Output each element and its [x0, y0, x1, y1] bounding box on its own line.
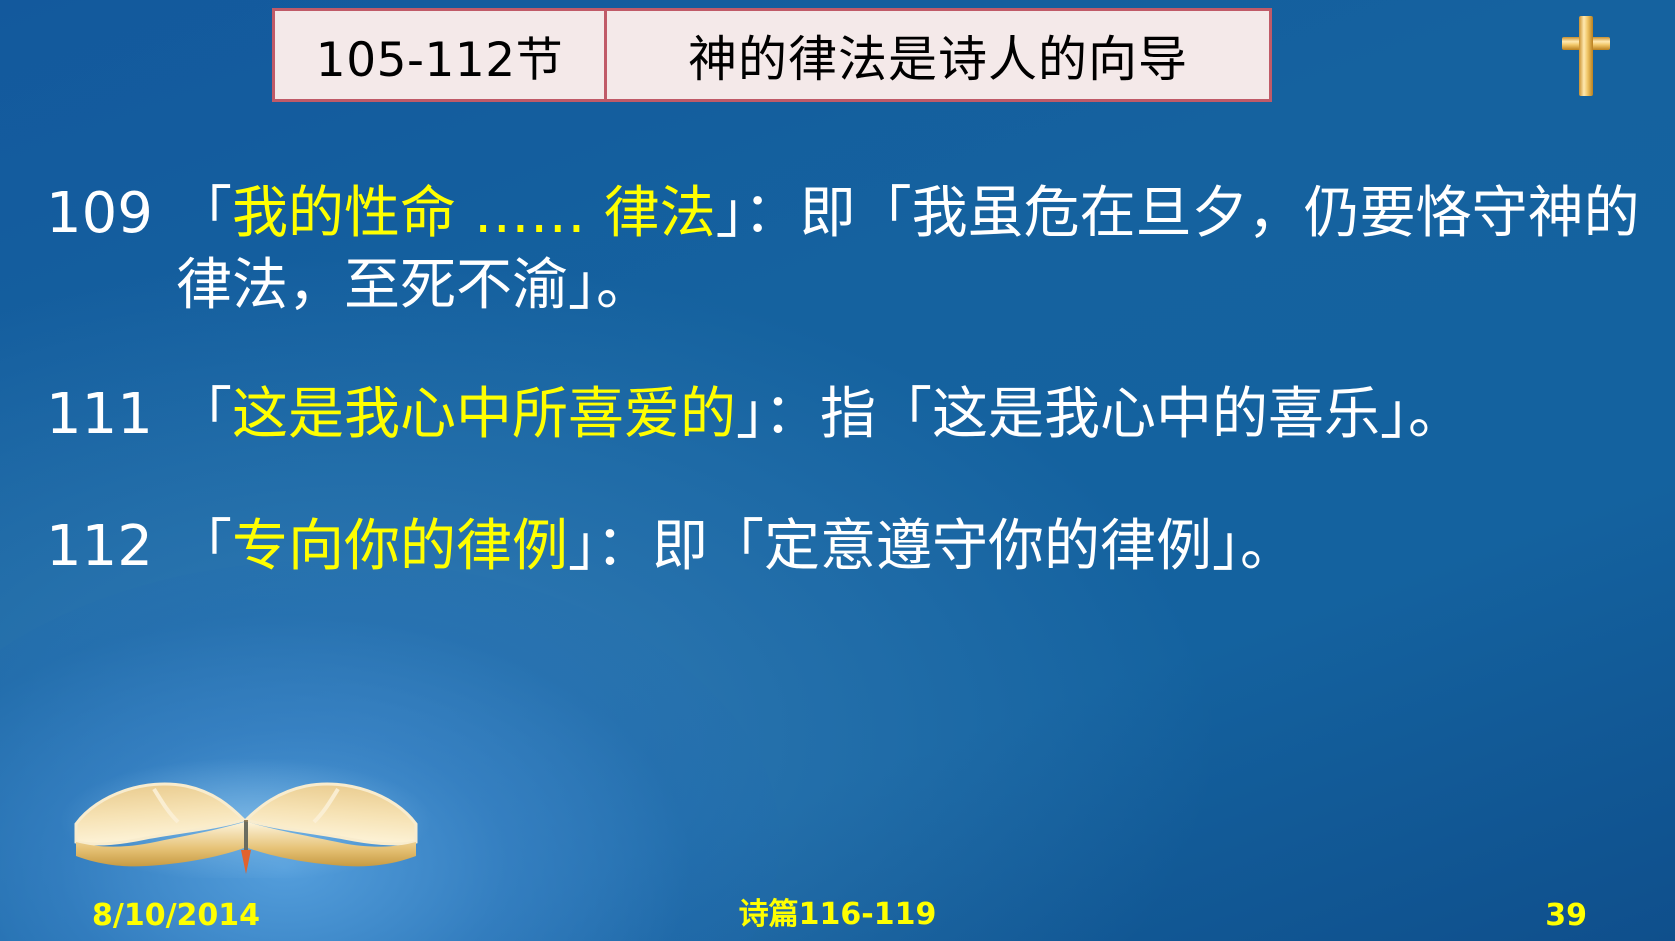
bullet-paragraph-111: 111「这是我心中所喜爱的」：指「这是我心中的喜乐」。 [46, 379, 1646, 451]
highlight-text-112: 专向你的律例 [232, 514, 568, 579]
bullet-paragraph-109: 109「我的性命 …… 律法」：即「我虽危在旦夕，仍要恪守神的律法，至死不渝」。 [46, 178, 1646, 321]
highlight-text-111: 这是我心中所喜爱的 [232, 382, 736, 447]
open-bible-icon [58, 750, 434, 878]
explanation-text-111: 」：指「这是我心中的喜乐」。 [736, 382, 1464, 447]
slide-footer: 8/10/2014 诗篇116-119 39 [0, 889, 1675, 935]
cross-icon [1555, 10, 1617, 102]
footer-scripture-range: 诗篇116-119 [0, 889, 1675, 933]
verse-number-111: 111 [46, 379, 176, 451]
quote-open-111: 「 [176, 382, 232, 447]
verse-number-112: 112 [46, 511, 176, 583]
explanation-text-112: 」：即「定意遵守你的律例」。 [568, 514, 1296, 579]
header-title: 神的律法是诗人的向导 [607, 11, 1269, 99]
highlight-text-109: 我的性命 …… 律法 [232, 181, 716, 246]
header-verse-reference: 105-112节 [275, 11, 607, 99]
quote-open-109: 「 [176, 181, 232, 246]
header-banner: 105-112节 神的律法是诗人的向导 [272, 8, 1272, 102]
presentation-slide: 105-112节 神的律法是诗人的向导 [0, 0, 1675, 941]
quote-open-112: 「 [176, 514, 232, 579]
footer-page-number: 39 [1545, 898, 1587, 933]
verse-number-109: 109 [46, 178, 176, 250]
bullet-paragraph-112: 112「专向你的律例」：即「定意遵守你的律例」。 [46, 511, 1646, 583]
slide-body: 109「我的性命 …… 律法」：即「我虽危在旦夕，仍要恪守神的律法，至死不渝」。… [46, 178, 1646, 583]
